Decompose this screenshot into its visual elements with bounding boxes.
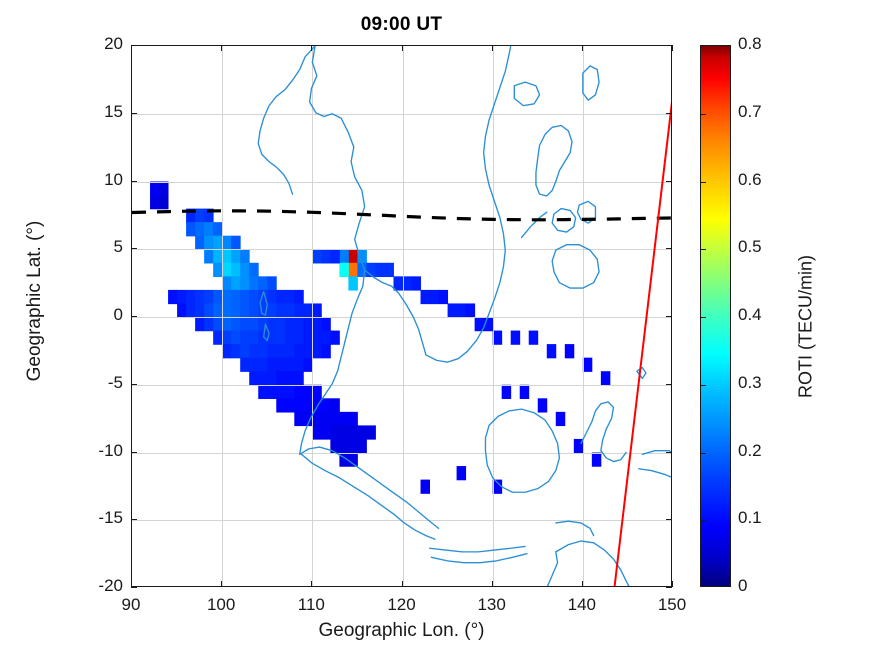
axis-tick [666, 384, 672, 385]
x-ticklabel: 150 [642, 595, 702, 615]
plot-axes[interactable] [131, 45, 672, 587]
axis-tick [221, 45, 222, 51]
colorbar-tick [701, 453, 706, 454]
colorbar-ticklabel: 0.7 [738, 102, 762, 122]
colorbar-tick [701, 317, 706, 318]
axis-tick [131, 45, 137, 46]
x-ticklabel: 100 [191, 595, 251, 615]
axis-tick [131, 181, 137, 182]
y-ticklabel: 10 [67, 170, 123, 190]
colorbar-ticklabel: 0.1 [738, 508, 762, 528]
colorbar-tick [701, 114, 706, 115]
x-ticklabel: 110 [281, 595, 341, 615]
axis-tick [131, 113, 137, 114]
colorbar-ticklabel: 0.2 [738, 441, 762, 461]
colorbar-tick [701, 249, 706, 250]
page-title: 09:00 UT [131, 14, 672, 36]
x-ticklabel: 140 [552, 595, 612, 615]
axis-tick [492, 581, 493, 587]
x-ticklabel: 130 [462, 595, 522, 615]
axis-tick [666, 45, 672, 46]
x-axis-label: Geographic Lon. (°) [131, 620, 672, 642]
axis-tick [666, 113, 672, 114]
y-ticklabel: 20 [67, 34, 123, 54]
x-ticklabel: 90 [101, 595, 161, 615]
axis-tick [582, 581, 583, 587]
y-ticklabel: 0 [67, 305, 123, 325]
x-ticklabel: 120 [372, 595, 432, 615]
colorbar-ticklabel: 0.6 [738, 170, 762, 190]
axis-tick [402, 581, 403, 587]
colorbar-tick [701, 520, 706, 521]
y-ticklabel: 5 [67, 237, 123, 257]
colorbar-tick [701, 385, 706, 386]
axis-tick [131, 519, 137, 520]
axis-tick [131, 316, 137, 317]
axis-tick [582, 45, 583, 51]
roti-map-figure: 09:00 UT [0, 0, 875, 656]
colorbar-ticklabel: 0 [738, 576, 747, 596]
axis-tick [666, 587, 672, 588]
colorbar-tick [701, 182, 706, 183]
y-ticklabel: -15 [67, 508, 123, 528]
axis-tick [131, 248, 137, 249]
colorbar-gradient [701, 46, 730, 586]
y-ticklabel: -20 [67, 576, 123, 596]
colorbar-ticklabel: 0.8 [738, 34, 762, 54]
colorbar-ticklabel: 0.3 [738, 373, 762, 393]
colorbar-ticklabel: 0.5 [738, 237, 762, 257]
axis-tick [492, 45, 493, 51]
axis-tick [666, 452, 672, 453]
terminator-line [132, 46, 671, 586]
axes-clip [132, 46, 671, 586]
colorbar[interactable] [700, 45, 731, 587]
colorbar-ticklabel: 0.4 [738, 305, 762, 325]
axis-tick [402, 45, 403, 51]
axis-tick [672, 581, 673, 587]
axis-tick [666, 519, 672, 520]
axis-tick [666, 316, 672, 317]
y-ticklabel: 15 [67, 102, 123, 122]
axis-tick [131, 587, 137, 588]
colorbar-label: ROTI (TECU/min) [796, 197, 817, 457]
axis-tick [311, 45, 312, 51]
axis-tick [221, 581, 222, 587]
axis-tick [672, 45, 673, 51]
axis-tick [311, 581, 312, 587]
axis-tick [131, 384, 137, 385]
axis-tick [666, 181, 672, 182]
y-ticklabel: -5 [67, 373, 123, 393]
y-ticklabel: -10 [67, 441, 123, 461]
y-axis-label: Geographic Lat. (°) [24, 161, 46, 441]
axis-tick [131, 452, 137, 453]
axis-tick [666, 248, 672, 249]
